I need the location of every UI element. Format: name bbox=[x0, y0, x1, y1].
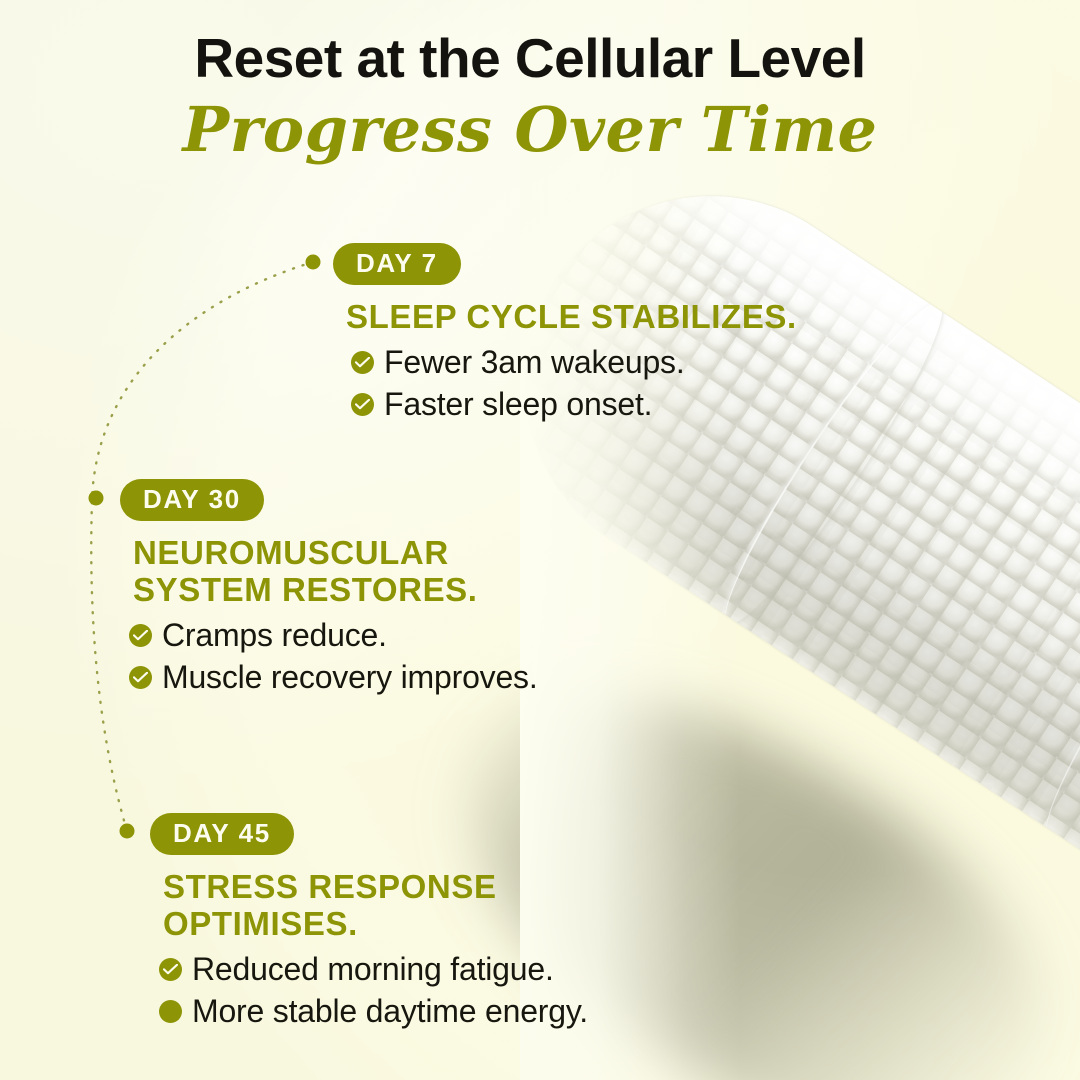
list-item: Cramps reduce. bbox=[129, 615, 538, 656]
milestone-heading-day45: STRESS RESPONSE OPTIMISES. bbox=[163, 869, 588, 943]
check-circle-icon bbox=[129, 666, 152, 689]
page-subtitle: Progress Over Time bbox=[0, 96, 1060, 164]
list-item: Fewer 3am wakeups. bbox=[351, 342, 797, 383]
bullet-list-day30: Cramps reduce. Muscle recovery improves. bbox=[129, 615, 538, 698]
bullet-label: Cramps reduce. bbox=[162, 615, 387, 656]
milestone-day30: DAY 30 NEUROMUSCULAR SYSTEM RESTORES. Cr… bbox=[120, 479, 538, 699]
badge-day30[interactable]: DAY 30 bbox=[120, 479, 264, 521]
bullet-label: Muscle recovery improves. bbox=[162, 657, 538, 698]
list-item: Faster sleep onset. bbox=[351, 384, 797, 425]
check-circle-icon bbox=[351, 351, 374, 374]
page-title: Reset at the Cellular Level bbox=[0, 28, 1060, 90]
bullet-label: More stable daytime energy. bbox=[192, 991, 588, 1032]
badge-day45[interactable]: DAY 45 bbox=[150, 813, 294, 855]
bullet-list-day45: Reduced morning fatigue. More stable day… bbox=[159, 949, 588, 1032]
page-header: Reset at the Cellular Level Progress Ove… bbox=[0, 28, 1060, 164]
milestone-heading-day30: NEUROMUSCULAR SYSTEM RESTORES. bbox=[133, 535, 538, 609]
milestone-day45: DAY 45 STRESS RESPONSE OPTIMISES. Reduce… bbox=[150, 813, 588, 1033]
milestone-heading-day7: SLEEP CYCLE STABILIZES. bbox=[346, 299, 797, 336]
infographic-canvas: Reset at the Cellular Level Progress Ove… bbox=[0, 0, 1080, 1080]
check-circle-icon bbox=[159, 958, 182, 981]
check-circle-icon bbox=[351, 393, 374, 416]
milestone-day7: DAY 7 SLEEP CYCLE STABILIZES. Fewer 3am … bbox=[333, 243, 797, 426]
list-item: Muscle recovery improves. bbox=[129, 657, 538, 698]
check-circle-icon bbox=[129, 624, 152, 647]
bullet-label: Reduced morning fatigue. bbox=[192, 949, 554, 990]
list-item: Reduced morning fatigue. bbox=[159, 949, 588, 990]
dot-circle-icon bbox=[159, 1000, 182, 1023]
bullet-label: Fewer 3am wakeups. bbox=[384, 342, 685, 383]
bullet-label: Faster sleep onset. bbox=[384, 384, 652, 425]
badge-day7[interactable]: DAY 7 bbox=[333, 243, 461, 285]
list-item: More stable daytime energy. bbox=[159, 991, 588, 1032]
bullet-list-day7: Fewer 3am wakeups. Faster sleep onset. bbox=[351, 342, 797, 425]
